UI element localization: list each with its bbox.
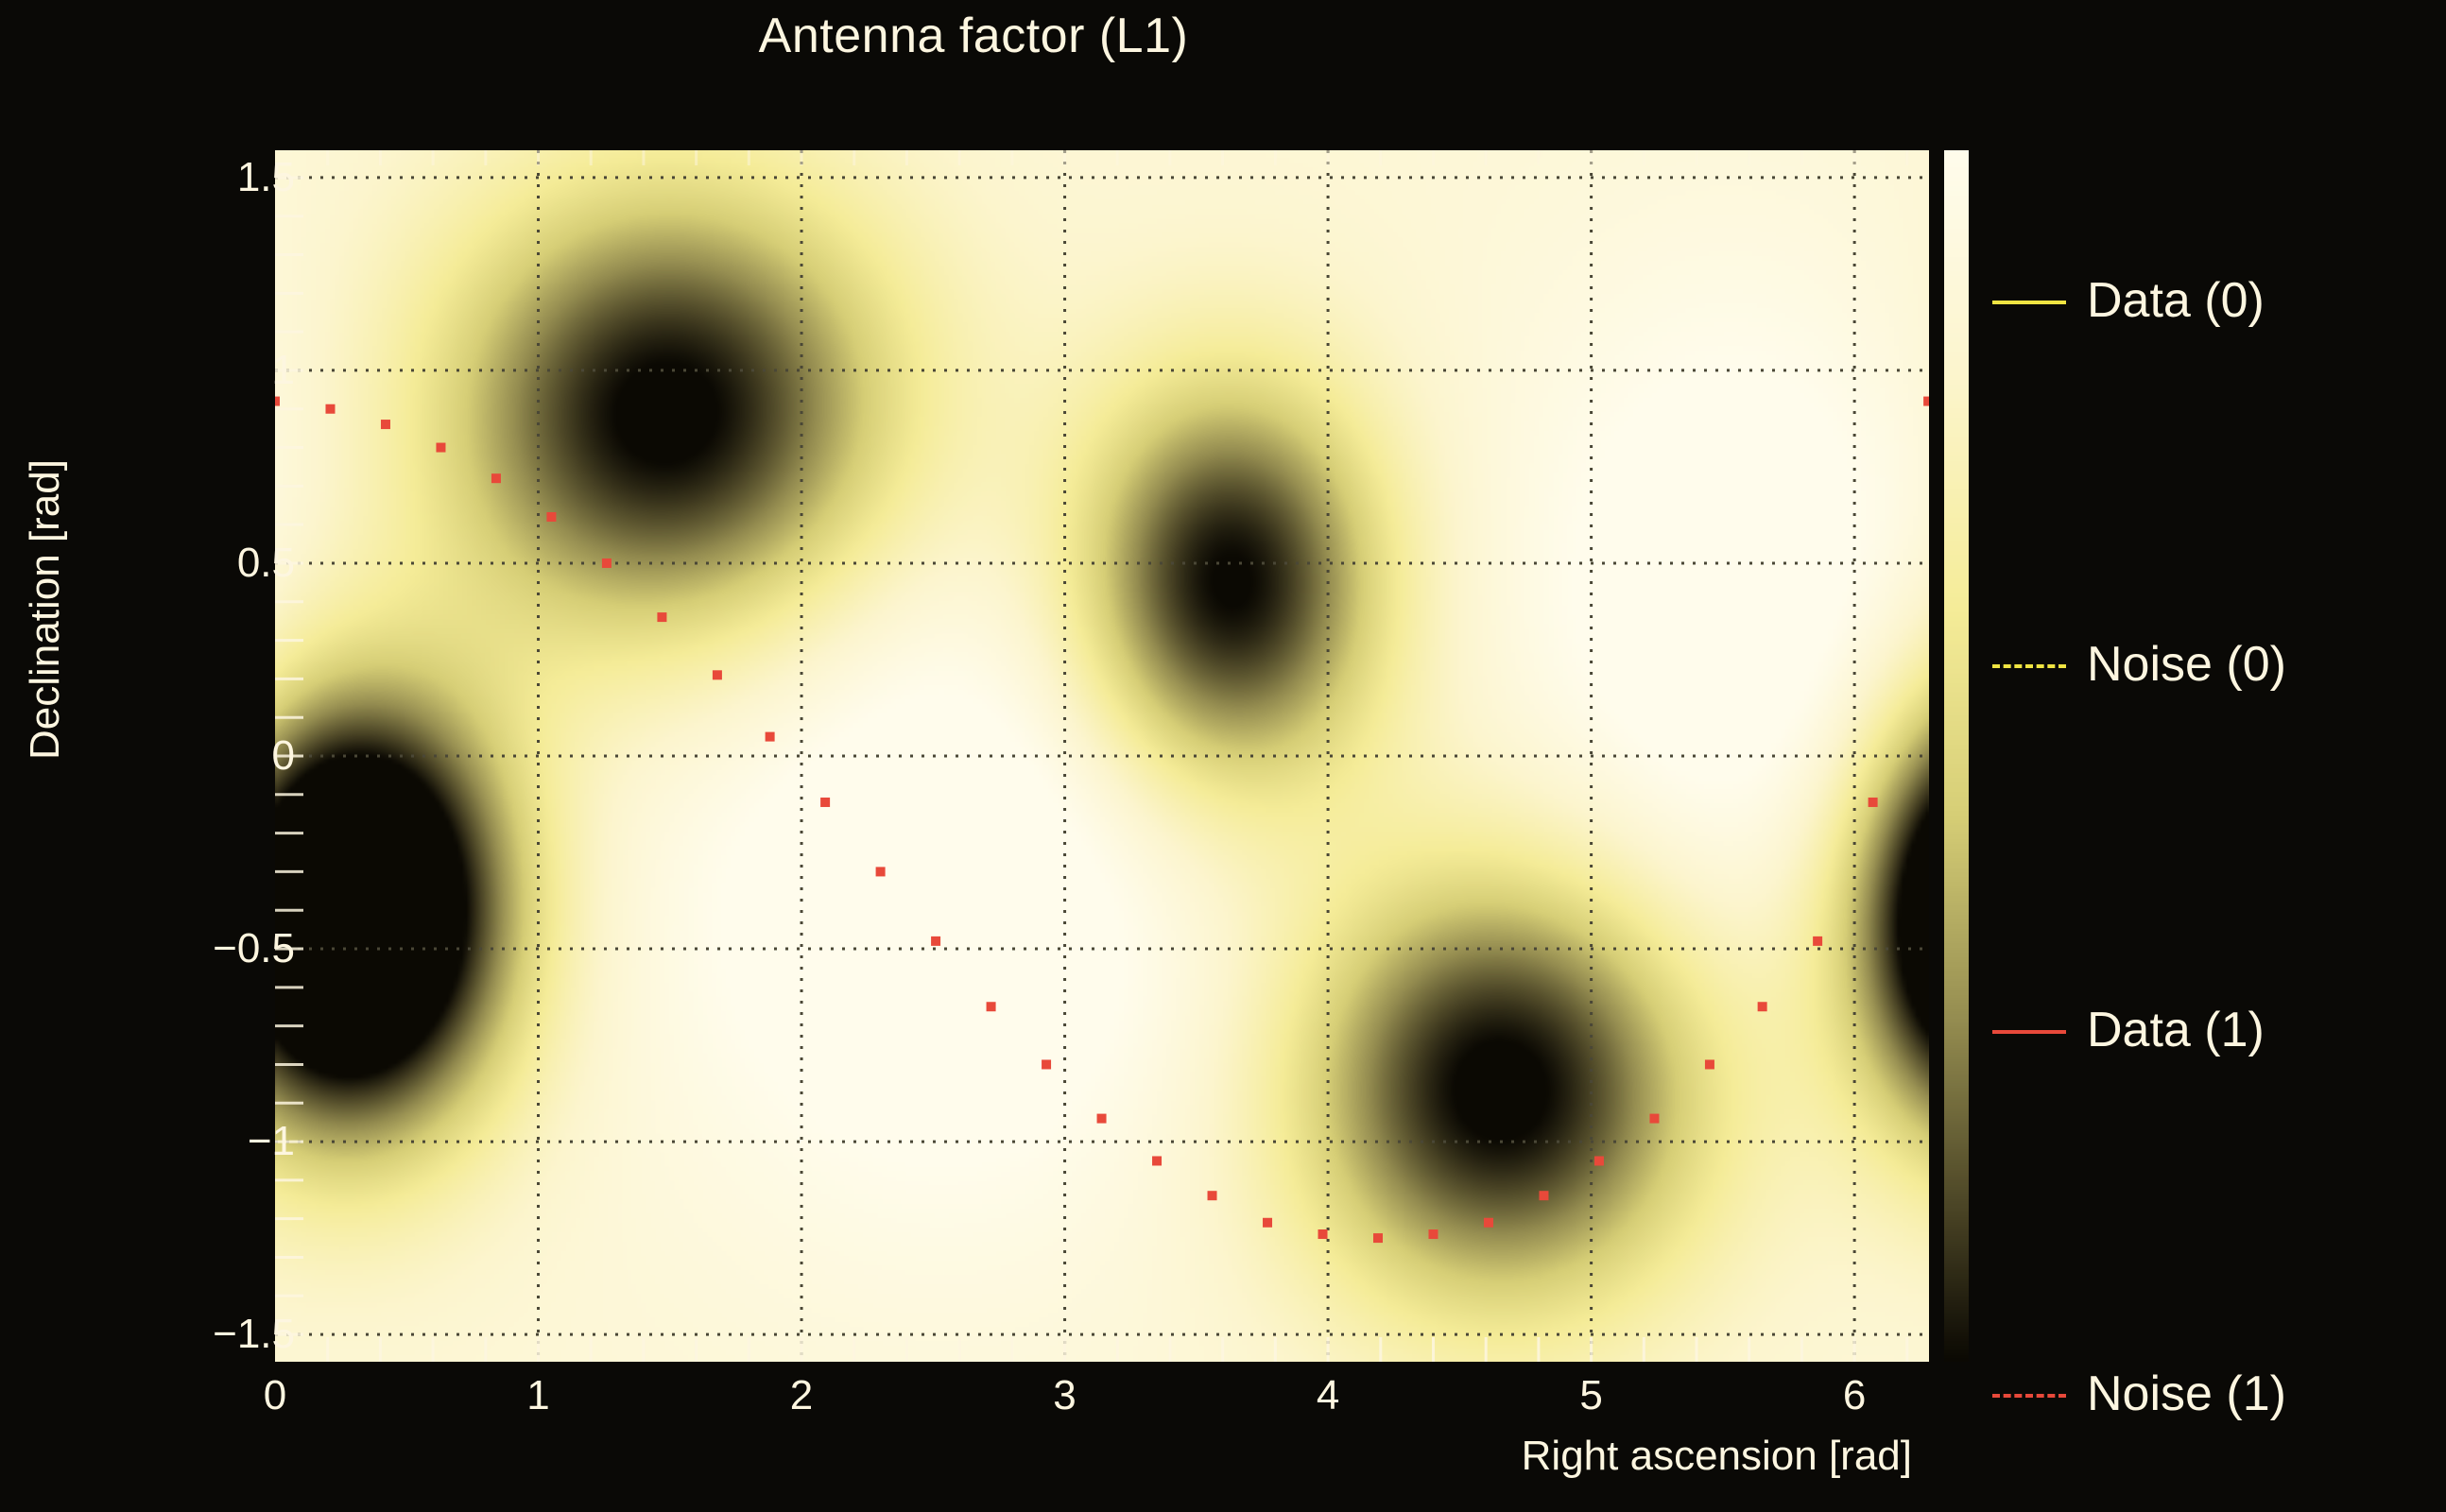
- legend-label: Data (1): [2087, 1005, 2265, 1055]
- plot-root: Antenna factor (L1) Declination [rad] 1.…: [0, 0, 2446, 1512]
- legend-entry-data-1-[interactable]: Data (1): [1992, 1005, 2265, 1055]
- x-tick-label: 6: [1843, 1372, 1866, 1419]
- legend-label: Noise (0): [2087, 640, 2286, 689]
- y-tick-label: 1.5: [237, 154, 295, 201]
- legend-line-icon: [1992, 1020, 2066, 1040]
- legend-entry-data-0-[interactable]: Data (0): [1992, 276, 2265, 325]
- y-tick-label: 0.5: [237, 540, 295, 587]
- y-tick-label: 0: [272, 732, 295, 780]
- x-tick-label: 5: [1579, 1372, 1602, 1419]
- legend-label: Data (0): [2087, 276, 2265, 325]
- data-series-overlay: [275, 150, 1929, 1362]
- legend-line-icon: [1992, 1383, 2066, 1404]
- y-tick-label: −1.5: [213, 1311, 295, 1358]
- y-tick-label: 1: [272, 347, 295, 394]
- x-tick-label: 2: [790, 1372, 813, 1419]
- x-tick-label: 1: [526, 1372, 549, 1419]
- legend[interactable]: Data (0)Noise (0)Data (1)Noise (1): [1992, 150, 2437, 1362]
- legend-entry-noise-1-[interactable]: Noise (1): [1992, 1369, 2286, 1418]
- plot-area[interactable]: [275, 150, 1929, 1362]
- legend-line-icon: [1992, 654, 2066, 675]
- colorbar-gradient: [1944, 150, 1969, 1362]
- colorbar: [1944, 150, 1969, 1362]
- y-axis-title: Declination [rad]: [22, 345, 69, 874]
- x-tick-label: 4: [1317, 1372, 1339, 1419]
- page-title: Antenna factor (L1): [0, 8, 1947, 64]
- x-tick-label: 0: [264, 1372, 286, 1419]
- y-tick-label: −0.5: [213, 925, 295, 972]
- series-data-1-: [275, 397, 1929, 1244]
- x-tick-label: 3: [1053, 1372, 1076, 1419]
- legend-line-icon: [1992, 290, 2066, 311]
- x-axis-title: Right ascension [rad]: [275, 1433, 1929, 1480]
- y-tick-label: −1: [248, 1118, 295, 1165]
- legend-entry-noise-0-[interactable]: Noise (0): [1992, 640, 2286, 689]
- legend-label: Noise (1): [2087, 1369, 2286, 1418]
